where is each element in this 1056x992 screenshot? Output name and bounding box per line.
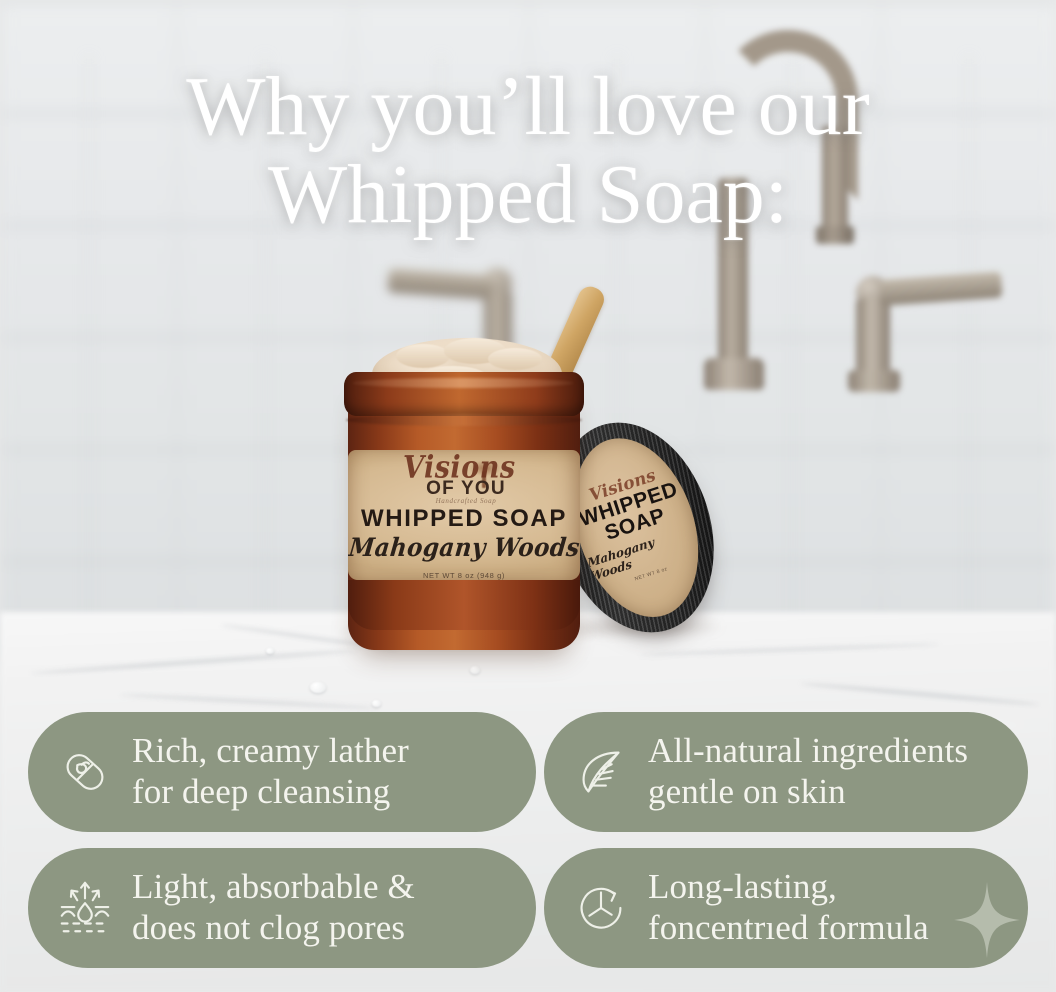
clock-history-icon	[570, 877, 632, 939]
skin-absorption-icon	[54, 877, 116, 939]
feature-card-grid: Rich, creamy lather for deep cleansing A…	[28, 712, 1028, 968]
promo-graphic: Visions WHIPPED SOAP Mahogany Woods NET …	[0, 0, 1056, 992]
feature-card-long-lasting[interactable]: Long-lasting, foncentrıed formula	[544, 848, 1028, 968]
label-product-name: WHIPPED SOAP	[361, 505, 567, 533]
jar-label: Visions OF YOU Handcrafted Soap WHIPPED …	[348, 450, 580, 580]
feature-card-text: Light, absorbable & does not clog pores	[132, 867, 415, 948]
jar-rim-highlight	[352, 378, 574, 388]
feature-card-text: Long-lasting, foncentrıed formula	[648, 867, 929, 948]
leaf-icon	[570, 741, 632, 803]
feature-card-all-natural-ingredients[interactable]: All-natural ingredients gentle on skin	[544, 712, 1028, 832]
sparkle-icon	[954, 882, 1020, 958]
feature-line-2: does not clog pores	[132, 908, 415, 949]
headline-line-2: Whipped Soap:	[0, 154, 1056, 236]
feature-card-text: All-natural ingredients gentle on skin	[648, 731, 968, 812]
feature-card-text: Rich, creamy lather for deep cleansing	[132, 731, 409, 812]
feature-card-light-absorbable[interactable]: Light, absorbable & does not clog pores	[28, 848, 536, 968]
soap-peak	[488, 348, 542, 370]
capsule-leaf-icon	[54, 741, 116, 803]
product-jar: Visions OF YOU Handcrafted Soap WHIPPED …	[330, 330, 750, 660]
jar-neck-ring	[346, 414, 582, 426]
water-droplet	[372, 700, 381, 707]
label-net-weight: NET WT 8 oz (948 g)	[423, 571, 505, 580]
water-droplet	[470, 666, 480, 674]
feature-line-2: foncentrıed formula	[648, 908, 929, 949]
feature-line-1: Rich, creamy lather	[132, 731, 409, 770]
soap-peak	[396, 344, 450, 368]
feature-line-1: Long-lasting,	[648, 867, 837, 906]
water-droplet	[266, 648, 274, 654]
feature-line-1: All-natural ingredients	[648, 731, 968, 770]
feature-line-2: for deep cleansing	[132, 772, 409, 813]
headline: Why you’ll love our Whipped Soap:	[0, 66, 1056, 237]
jar-foot	[348, 580, 580, 630]
faucet-handle-base	[848, 370, 900, 392]
label-scent: Mahogany Woods	[348, 533, 580, 563]
feature-line-2: gentle on skin	[648, 772, 968, 813]
headline-line-1: Why you’ll love our	[0, 66, 1056, 148]
feature-line-1: Light, absorbable &	[132, 867, 415, 906]
brand-lockup: Visions OF YOU Handcrafted Soap	[389, 456, 539, 499]
faucet-handle-lever	[879, 272, 1003, 306]
brand-tagline: Handcrafted Soap	[405, 497, 527, 505]
water-droplet	[310, 682, 326, 693]
feature-card-rich-creamy-lather[interactable]: Rich, creamy lather for deep cleansing	[28, 712, 536, 832]
